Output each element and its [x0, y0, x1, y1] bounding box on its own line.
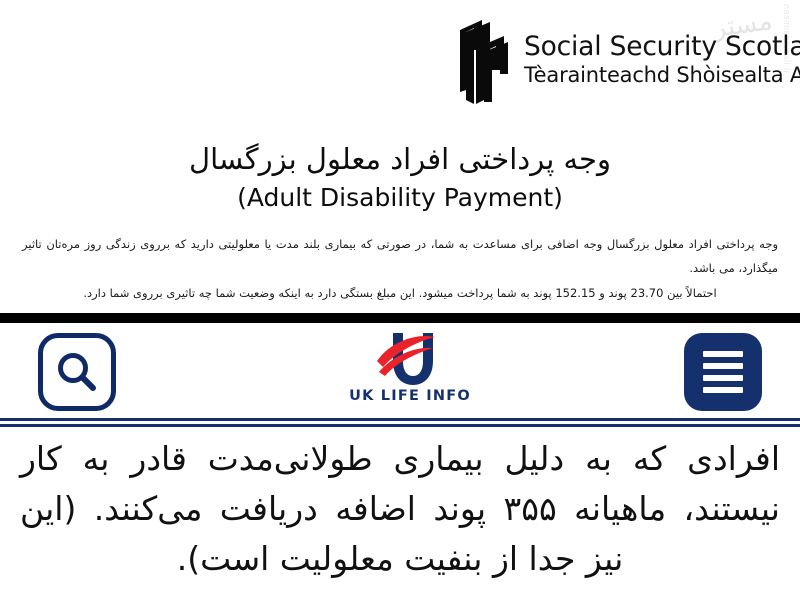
- uk-life-info-logo-mark: [373, 331, 447, 387]
- social-security-scotland-brand: Social Security Scotland Tèarainteachd S…: [452, 14, 800, 106]
- search-icon: [54, 349, 100, 395]
- menu-line-4: [703, 387, 743, 393]
- black-separator-band: [0, 313, 800, 323]
- document-header-section: مستر nasimsarvsali.ir Social Security Sc…: [0, 0, 800, 313]
- brand-line-gaelic: Tèarainteachd Shòisealta Alba: [524, 64, 800, 87]
- brand-text: Social Security Scotland Tèarainteachd S…: [524, 33, 800, 86]
- page-title-farsi: وجه پرداختی افراد معلول بزرگسال: [0, 140, 800, 179]
- social-security-scotland-logo-mark: [452, 14, 514, 106]
- page-title: وجه پرداختی افراد معلول بزرگسال (Adult D…: [0, 140, 800, 212]
- caption-line-1: افرادی که به دلیل بیماری طولانی‌مدت قادر…: [20, 434, 780, 484]
- caption-text: افرادی که به دلیل بیماری طولانی‌مدت قادر…: [20, 434, 780, 584]
- brand-line-english: Social Security Scotland: [524, 33, 800, 62]
- menu-line-3: [703, 375, 743, 381]
- navy-divider: [0, 418, 800, 427]
- icon-toolbar: UK LIFE INFO: [0, 323, 800, 418]
- hamburger-menu-button[interactable]: [684, 333, 762, 411]
- uk-life-info-logo: UK LIFE INFO: [340, 331, 480, 411]
- caption-line-3: نیز جدا از بنفیت معلولیت است).: [20, 534, 780, 584]
- menu-line-1: [703, 351, 743, 357]
- body-copy: وجه پرداختی افراد معلول بزرگسال وجه اضاف…: [22, 232, 778, 305]
- caption-line-2: نیستند، ماهیانه ۳۵۵ پوند اضافه دریافت می…: [20, 484, 780, 534]
- uk-life-info-logo-text: UK LIFE INFO: [349, 388, 471, 404]
- menu-line-2: [703, 363, 743, 369]
- search-button[interactable]: [38, 333, 116, 411]
- body-paragraph-1: وجه پرداختی افراد معلول بزرگسال وجه اضاف…: [22, 232, 778, 280]
- page-title-english: (Adult Disability Payment): [0, 183, 800, 212]
- divider-rule-bottom: [0, 424, 800, 427]
- body-paragraph-2: احتمالاً بین 23.70 پوند و 152.15 پوند به…: [22, 281, 778, 305]
